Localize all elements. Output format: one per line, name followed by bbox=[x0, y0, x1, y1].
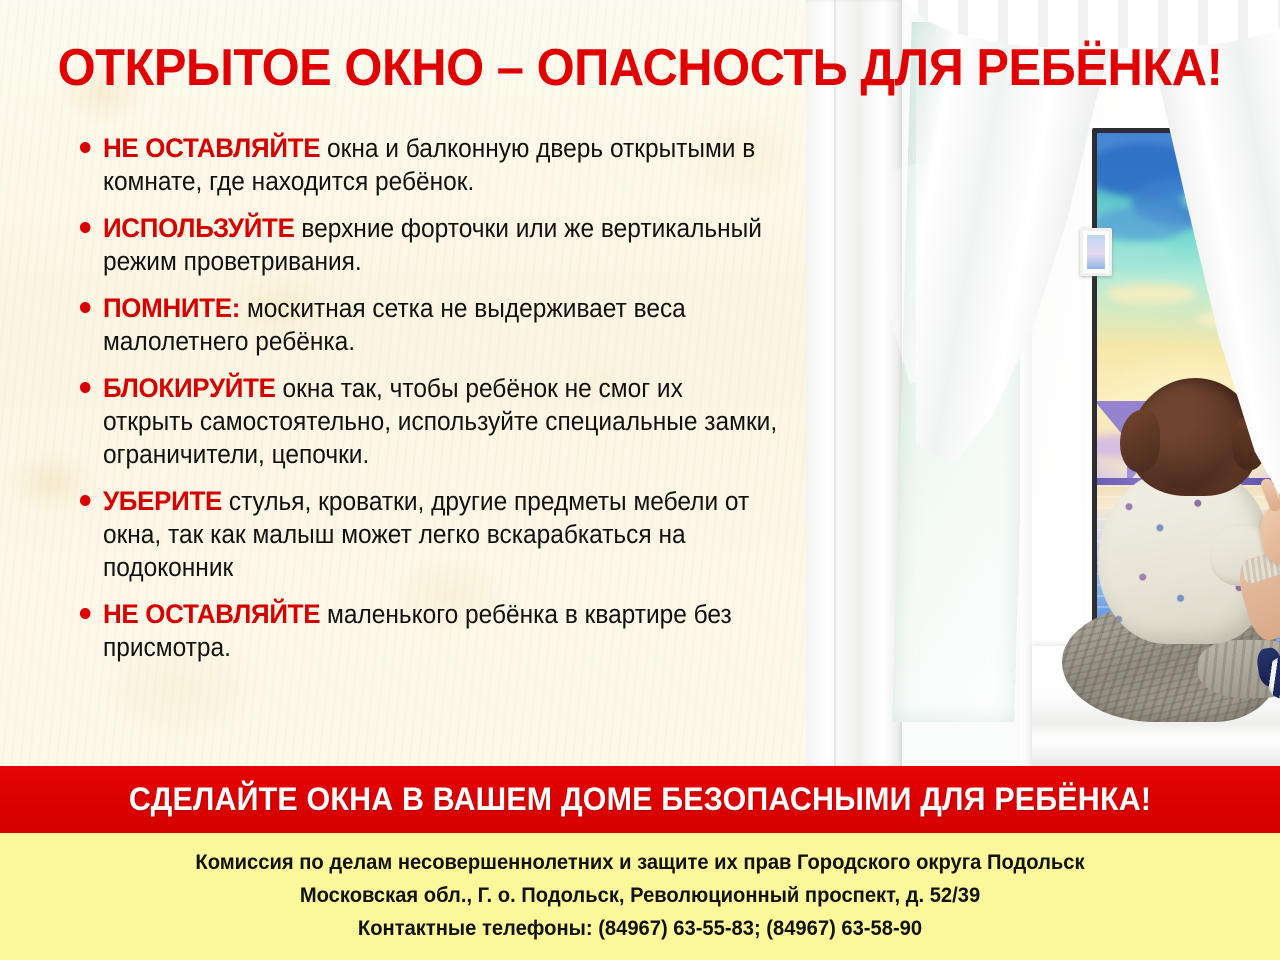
list-item: НЕ ОСТАВЛЯЙТЕ маленького ребёнка в кварт… bbox=[78, 598, 779, 665]
cloud bbox=[1195, 309, 1280, 329]
window-latch-right bbox=[1262, 228, 1280, 276]
poster-root: ОТКРЫТОЕ ОКНО – ОПАСНОСТЬ ДЛЯ РЕБЁНКА! Н… bbox=[0, 0, 1280, 960]
bullet-dot-icon bbox=[80, 142, 91, 153]
banner-text: СДЕЛАЙТЕ ОКНА В ВАШЕМ ДОМЕ БЕЗОПАСНЫМИ Д… bbox=[129, 781, 1151, 818]
footer-organization: Комиссия по делам несовершеннолетних и з… bbox=[26, 846, 1255, 879]
cloud bbox=[1193, 141, 1280, 179]
footer-contact-block: Комиссия по делам несовершеннолетних и з… bbox=[0, 833, 1280, 960]
list-item: НЕ ОСТАВЛЯЙТЕ окна и балконную дверь отк… bbox=[78, 132, 779, 199]
bullet-dot-icon bbox=[80, 382, 91, 393]
rule-lead: БЛОКИРУЙТЕ bbox=[103, 373, 276, 403]
list-item: БЛОКИРУЙТЕ окна так, чтобы ребёнок не см… bbox=[78, 372, 779, 472]
cloud bbox=[1181, 185, 1280, 215]
list-item: ПОМНИТЕ: москитная сетка не выдерживает … bbox=[78, 292, 779, 359]
list-item: ИСПОЛЬЗУЙТЕ верхние форточки или же верт… bbox=[78, 212, 779, 279]
rule-lead: ИСПОЛЬЗУЙТЕ bbox=[103, 213, 295, 243]
balcony-door-glass bbox=[892, 22, 1034, 722]
rule-lead: ПОМНИТЕ: bbox=[103, 293, 240, 323]
footer-address: Московская обл., Г. о. Подольск, Революц… bbox=[26, 879, 1255, 912]
rule-lead: НЕ ОСТАВЛЯЙТЕ bbox=[103, 599, 320, 629]
footer-phones: Контактные телефоны: (84967) 63-55-83; (… bbox=[26, 912, 1255, 945]
balcony-door-frame bbox=[806, 0, 902, 766]
call-to-action-banner: СДЕЛАЙТЕ ОКНА В ВАШЕМ ДОМЕ БЕЗОПАСНЫМИ Д… bbox=[0, 766, 1280, 833]
child-hair bbox=[1130, 378, 1258, 496]
bullet-dot-icon bbox=[80, 302, 91, 313]
list-item: УБЕРИТЕ стулья, кроватки, другие предмет… bbox=[78, 485, 779, 585]
rule-lead: УБЕРИТЕ bbox=[103, 486, 222, 516]
door-edge bbox=[834, 0, 837, 766]
window-latch-left bbox=[1080, 228, 1112, 276]
window-photo bbox=[806, 0, 1280, 766]
bullet-dot-icon bbox=[80, 222, 91, 233]
bullet-dot-icon bbox=[80, 608, 91, 619]
page-title: ОТКРЫТОЕ ОКНО – ОПАСНОСТЬ ДЛЯ РЕБЁНКА! bbox=[38, 38, 1241, 98]
rule-lead: НЕ ОСТАВЛЯЙТЕ bbox=[103, 133, 320, 163]
bullet-dot-icon bbox=[80, 495, 91, 506]
cloud bbox=[1105, 283, 1197, 305]
safety-rules-list: НЕ ОСТАВЛЯЙТЕ окна и балконную дверь отк… bbox=[78, 132, 808, 678]
